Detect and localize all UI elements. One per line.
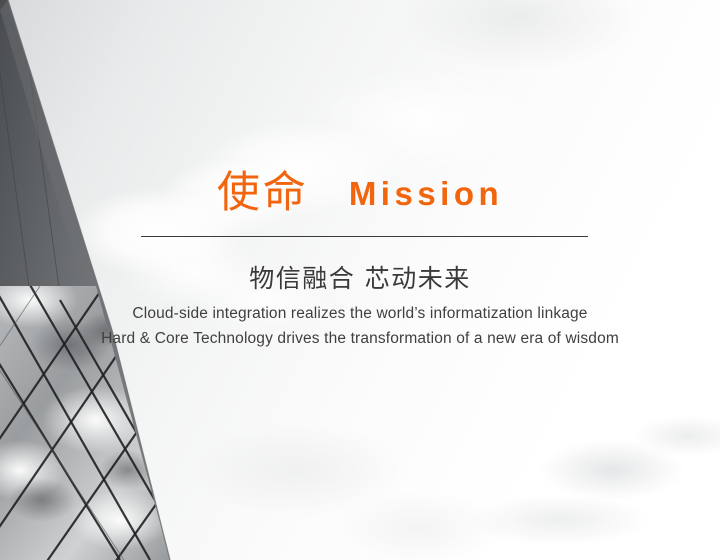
hero-content: 使命Mission 物信融合 芯动未来 Cloud-side integrati… [0,0,720,560]
hero-title-english: Mission [349,177,503,210]
hero-tagline-line-1: Cloud-side integration realizes the worl… [0,305,720,323]
title-divider-line [141,236,588,237]
hero-tagline-line-2: Hard & Core Technology drives the transf… [0,330,720,348]
mission-hero-banner: 使命Mission 物信融合 芯动未来 Cloud-side integrati… [0,0,720,560]
hero-subtitle-chinese: 物信融合 芯动未来 [0,259,720,295]
hero-title-chinese: 使命 [217,172,309,215]
hero-title: 使命Mission [0,172,720,215]
